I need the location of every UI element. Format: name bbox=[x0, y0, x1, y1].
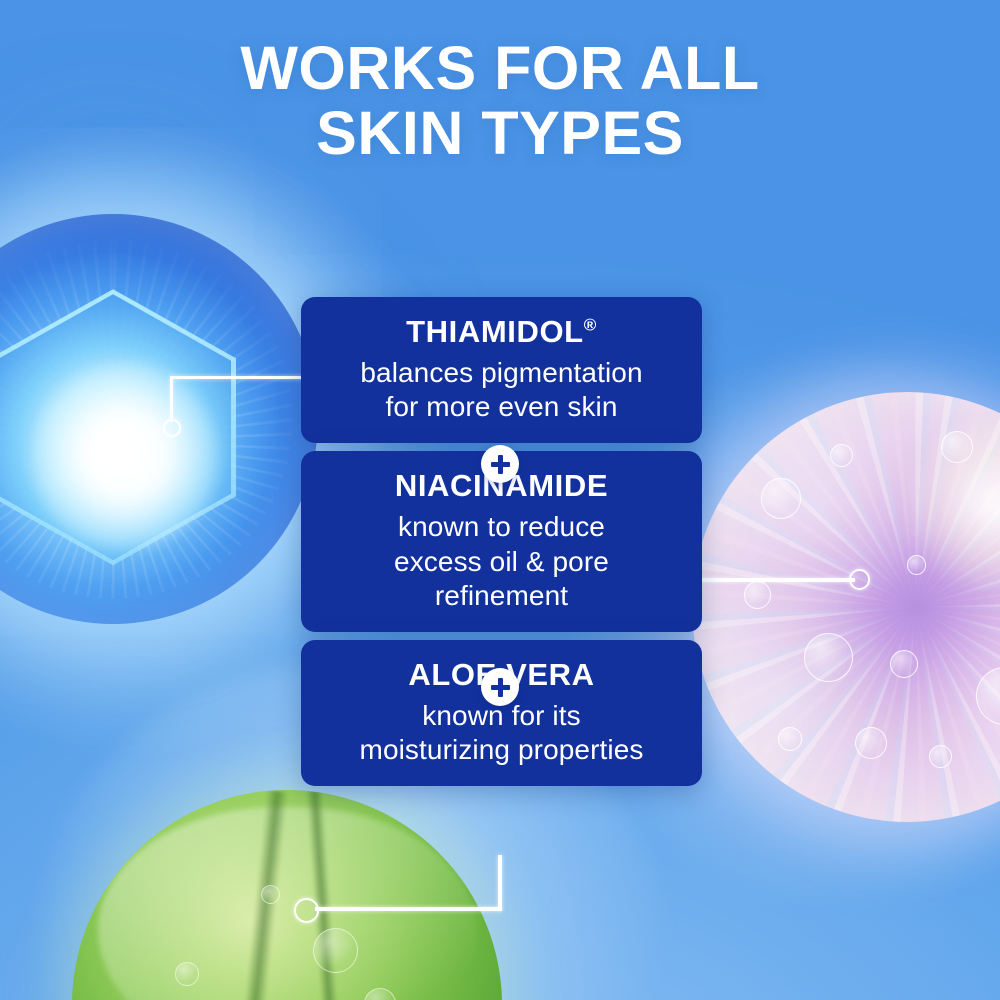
bubble bbox=[761, 478, 802, 519]
thiamidol-connector-dot bbox=[163, 419, 181, 437]
bubble bbox=[830, 444, 854, 468]
page-title-line-2: SKIN TYPES bbox=[0, 101, 1000, 166]
benefit-desc-line: moisturizing properties bbox=[319, 733, 684, 768]
benefit-desc-line: excess oil & pore bbox=[319, 545, 684, 580]
bubble bbox=[744, 581, 772, 609]
bubble bbox=[941, 431, 973, 463]
niacinamide-connector-dot bbox=[849, 569, 870, 590]
plus-separator-icon-1 bbox=[481, 445, 519, 483]
benefit-title-thiamidol: THIAMIDOL® bbox=[319, 315, 684, 350]
benefit-desc-line: known to reduce bbox=[319, 510, 684, 545]
thiamidol-connector-line-vertical bbox=[170, 376, 173, 422]
registered-trademark-icon: ® bbox=[584, 316, 597, 335]
aloe-connector-dot bbox=[294, 898, 319, 923]
plus-glyph bbox=[491, 678, 510, 697]
bubble bbox=[907, 555, 926, 574]
benefit-desc-niacinamide: known to reduce excess oil & pore refine… bbox=[319, 510, 684, 614]
bubble bbox=[804, 633, 853, 682]
plus-glyph bbox=[491, 455, 510, 474]
benefit-title-text: THIAMIDOL bbox=[406, 314, 584, 349]
promo-graphic: WORKS FOR ALL SKIN TYPES THIAMIDOL® bala… bbox=[0, 0, 1000, 1000]
benefit-desc-aloe-vera: known for its moisturizing properties bbox=[319, 699, 684, 768]
bubble bbox=[890, 650, 918, 678]
niacinamide-connector-line bbox=[700, 578, 855, 582]
aloe-connector-line-vertical bbox=[498, 855, 502, 911]
thiamidol-connector-line bbox=[172, 376, 303, 379]
benefit-desc-line: for more even skin bbox=[319, 390, 684, 425]
page-title-line-1: WORKS FOR ALL bbox=[0, 36, 1000, 101]
bubble bbox=[778, 727, 802, 751]
benefit-card-list: THIAMIDOL® balances pigmentation for mor… bbox=[301, 297, 702, 786]
aloe-connector-line bbox=[315, 907, 501, 911]
benefit-card-thiamidol[interactable]: THIAMIDOL® balances pigmentation for mor… bbox=[301, 297, 702, 443]
page-title: WORKS FOR ALL SKIN TYPES bbox=[0, 36, 1000, 165]
benefit-desc-thiamidol: balances pigmentation for more even skin bbox=[319, 356, 684, 425]
benefit-card-aloe-vera[interactable]: ALOE VERA known for its moisturizing pro… bbox=[301, 640, 702, 786]
benefit-desc-line: refinement bbox=[319, 579, 684, 614]
benefit-desc-line: balances pigmentation bbox=[319, 356, 684, 391]
bubble bbox=[929, 745, 953, 769]
plus-separator-icon-2 bbox=[481, 668, 519, 706]
